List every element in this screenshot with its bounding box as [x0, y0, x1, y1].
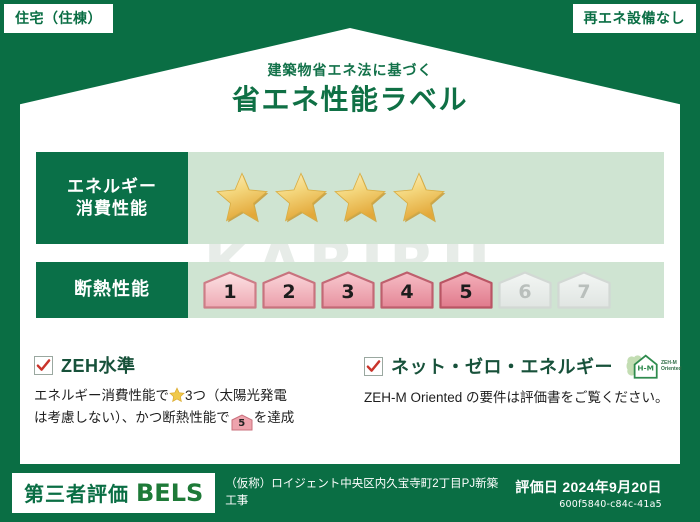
- note-zeh-text-1: エネルギー消費性能で: [34, 388, 169, 403]
- evaluation-id: 600f5840-c84c-41a5: [515, 499, 662, 510]
- note-zeh-text-2: 3つ（太陽光発電: [185, 388, 287, 403]
- title-subtitle: 建築物省エネ法に基づく: [0, 62, 700, 79]
- grade-badge-active: 5: [438, 270, 494, 310]
- star-filled: [391, 171, 447, 225]
- grade-badge-label: 2: [282, 283, 295, 310]
- bels-label-en: BELS: [136, 479, 203, 507]
- grade-badge-active: 1: [202, 270, 258, 310]
- note-zeh-body: エネルギー消費性能で 3つ（太陽光発電は考慮しない）、かつ断熱性能で 5 を達成: [34, 385, 354, 431]
- note-zeh-text-4: を達成: [254, 410, 295, 425]
- zeh-m-caption: ZEH-M Oriented: [661, 360, 682, 373]
- note-zeh-standard: ZEH水準 エネルギー消費性能で 3つ（太陽光発電は考慮しない）、かつ断熱性能で…: [34, 352, 354, 431]
- grade-badge-label: 7: [577, 283, 590, 310]
- building-name: （仮称）ロイジェント中央区内久宝寺町2丁目PJ新築工事: [215, 476, 515, 509]
- zeh-m-caption-line2: Oriented: [661, 366, 682, 372]
- note-net-zero-energy: ネット・ゼロ・エネルギー H-M: [364, 352, 672, 409]
- row-energy-performance: エネルギー 消費性能: [36, 152, 664, 244]
- note-nze-body: ZEH-M Oriented の要件は評価書をご覧ください。: [364, 387, 672, 409]
- grade-badge-label: 3: [341, 283, 354, 310]
- zeh-m-oriented-logo: H-M ZEH-M Oriented: [625, 352, 682, 380]
- grade-badge-active: 4: [379, 270, 435, 310]
- checkmark-icon: [34, 356, 53, 375]
- small-star-icon: [169, 387, 185, 403]
- bels-logo: 第三者評価 BELS: [12, 473, 215, 513]
- star-rating: [188, 152, 664, 244]
- note-nze-title: ネット・ゼロ・エネルギー: [391, 353, 613, 379]
- row-insulation-performance: 断熱性能 1234567: [36, 262, 664, 318]
- grade-badge-label: 4: [400, 283, 413, 310]
- note-zeh-text-3: は考慮しない）、かつ断熱性能で: [34, 410, 230, 425]
- evaluation-info: 評価日 2024年9月20日 600f5840-c84c-41a5: [515, 477, 674, 510]
- grade-badge-inactive: 6: [497, 270, 553, 310]
- row-energy-label-line2: 消費性能: [76, 198, 148, 220]
- title-main: 省エネ性能ラベル: [0, 82, 700, 117]
- grade-badge-label: 6: [518, 283, 531, 310]
- evaluation-date: 評価日 2024年9月20日: [515, 477, 662, 497]
- grade-badge-label: 5: [459, 283, 472, 310]
- grade-badge-label: 1: [223, 283, 236, 310]
- svg-text:H-M: H-M: [637, 363, 654, 372]
- grade-badge-inactive: 7: [556, 270, 612, 310]
- row-insulation-label: 断熱性能: [36, 262, 188, 318]
- star-filled: [273, 171, 329, 225]
- footer-bar: 第三者評価 BELS （仮称）ロイジェント中央区内久宝寺町2丁目PJ新築工事 評…: [0, 464, 700, 522]
- row-energy-label: エネルギー 消費性能: [36, 152, 188, 244]
- note-nze-header: ネット・ゼロ・エネルギー H-M: [364, 352, 672, 380]
- small-grade-badge-label: 5: [231, 414, 253, 433]
- grade-badge-active: 3: [320, 270, 376, 310]
- insulation-grade-scale: 1234567: [188, 262, 664, 318]
- zeh-m-caption-line1: ZEH-M: [661, 360, 677, 366]
- note-zeh-header: ZEH水準: [34, 352, 354, 378]
- star-filled: [214, 171, 270, 225]
- page-title: 建築物省エネ法に基づく 省エネ性能ラベル: [0, 62, 700, 117]
- star-filled: [332, 171, 388, 225]
- checkmark-icon: [364, 357, 383, 376]
- row-energy-label-line1: エネルギー: [67, 176, 157, 198]
- energy-label-root: KARIRU 住宅（住棟） 再エネ設備なし 建築物省エネ法に基づく 省エネ性能ラ…: [0, 0, 700, 522]
- note-zeh-title: ZEH水準: [61, 352, 136, 378]
- bels-label-jp: 第三者評価: [24, 478, 129, 507]
- tag-renewable-equipment: 再エネ設備なし: [573, 4, 697, 33]
- grade-badge-active: 2: [261, 270, 317, 310]
- tag-building-type: 住宅（住棟）: [4, 4, 113, 33]
- zeh-m-house-icon: H-M: [625, 352, 659, 380]
- small-grade-badge: 5: [231, 414, 253, 431]
